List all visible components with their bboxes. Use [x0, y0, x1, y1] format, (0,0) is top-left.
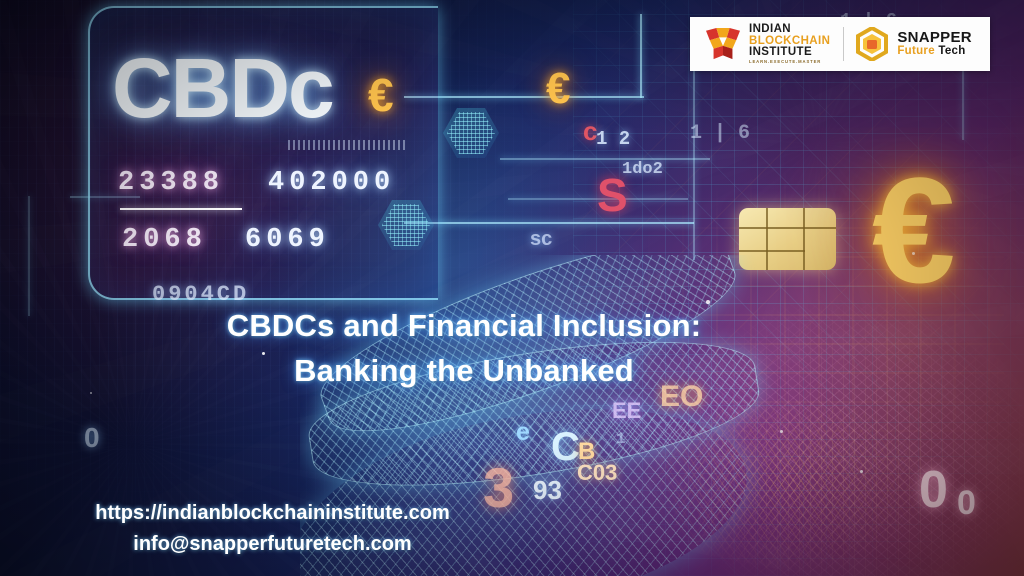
snapper-line-1: SNAPPER — [897, 30, 972, 45]
banner-canvas: CBDc € 23388 402000 2068 6069 0904CD € €… — [0, 0, 1024, 576]
ibi-cube-icon — [704, 27, 742, 61]
snapper-line-2b: Tech — [938, 45, 965, 57]
vignette-overlay — [0, 0, 1024, 576]
ibi-line-3: INSTITUTE — [749, 47, 830, 59]
ibi-line-1: INDIAN — [749, 24, 830, 36]
ibi-tagline: LEARN.EXECUTE.MASTER — [749, 60, 830, 64]
partner-logo-bar: INDIAN BLOCKCHAIN INSTITUTE LEARN.EXECUT… — [690, 17, 990, 71]
headline: CBDCs and Financial Inclusion: Banking t… — [0, 303, 1024, 394]
logo-divider — [843, 27, 844, 61]
headline-line-2: Banking the Unbanked — [0, 348, 928, 393]
website-url[interactable]: https://indianblockchaininstitute.com — [0, 502, 545, 525]
indian-blockchain-institute-logo[interactable]: INDIAN BLOCKCHAIN INSTITUTE LEARN.EXECUT… — [690, 24, 830, 64]
headline-line-1: CBDCs and Financial Inclusion: — [227, 308, 702, 343]
snapper-hex-icon — [855, 27, 889, 61]
snapper-future-tech-logo[interactable]: SNAPPER Future Tech — [855, 27, 972, 61]
email-address[interactable]: info@snapperfuturetech.com — [0, 533, 545, 556]
snapper-line-2a: Future — [897, 45, 935, 57]
